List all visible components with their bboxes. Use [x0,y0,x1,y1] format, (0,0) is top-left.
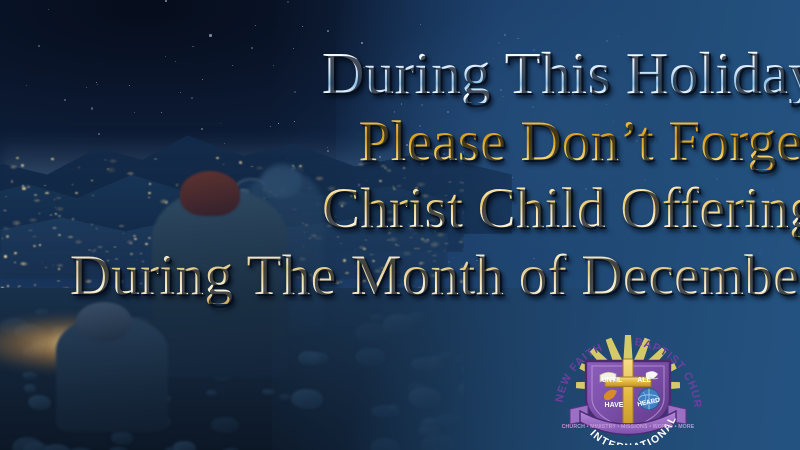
motto-all: ALL [637,377,651,384]
headline-line-3: Christ Child Offering [322,180,800,237]
headline-line-2: Please Don’t Forget [358,113,800,170]
logo-tagline: CHURCH • MINISTRY • MISSIONS • WORLD • M… [548,424,708,430]
motto-have: HAVE [605,402,624,409]
motto-until: UNTIL [602,377,623,384]
headline-line-1: During This Holiday [322,44,800,103]
headline-line-4: During The Month of December [70,247,800,304]
christmas-offering-banner: During This Holiday Please Don’t Forget … [0,0,800,450]
